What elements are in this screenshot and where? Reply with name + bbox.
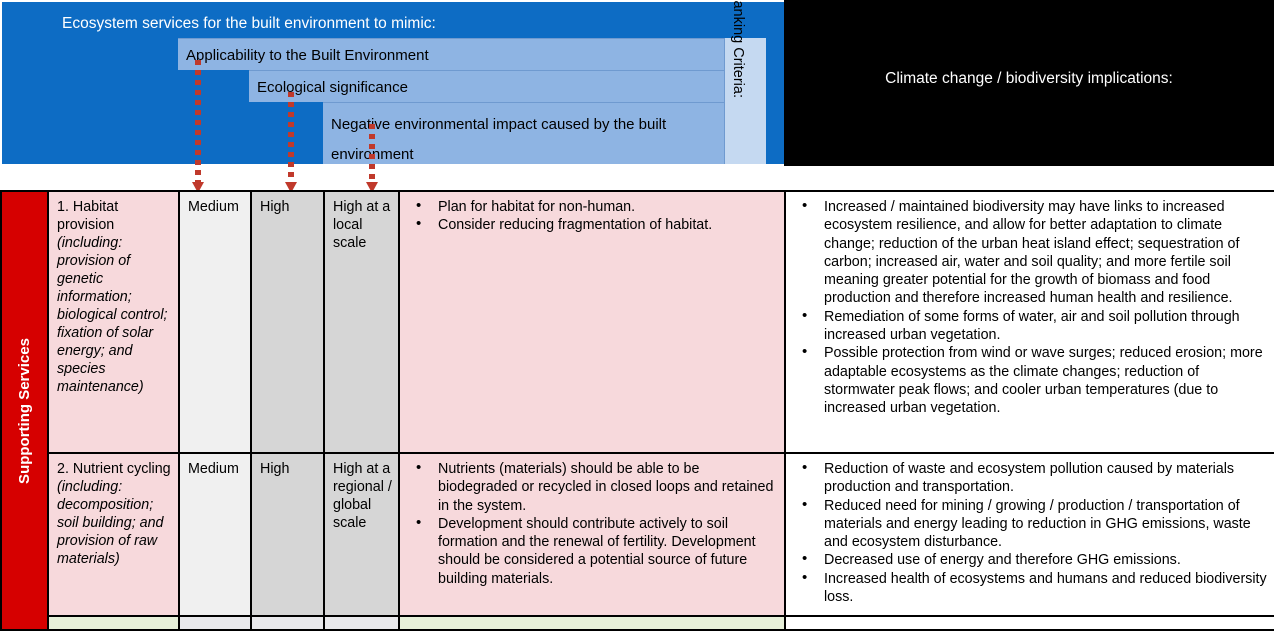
- principles-cell: Plan for habitat for non-human.Consider …: [399, 191, 785, 453]
- principles-cell: Nutrients (materials) should be able to …: [399, 453, 785, 616]
- negative-impact-cell: High at a local scale: [324, 191, 399, 453]
- table-row: 2. Nutrient cycling (including: decompos…: [1, 453, 1274, 616]
- table-header: Ecosystem services for the built environ…: [0, 0, 1274, 166]
- negative-impact-cell-next: [324, 616, 399, 630]
- ecosystem-services-table: Supporting Services 1. Habitat provision…: [0, 190, 1274, 631]
- bullet-item: Reduced need for mining / growing / prod…: [794, 497, 1268, 552]
- negative-impact-cell: High at a regional / global scale: [324, 453, 399, 616]
- bullet-item: Increased / maintained biodiversity may …: [794, 198, 1268, 308]
- bullet-item: Increased health of ecosystems and human…: [794, 570, 1268, 607]
- group-supporting-services: Supporting Services: [1, 191, 48, 630]
- bullet-item: Decreased use of energy and therefore GH…: [794, 551, 1268, 569]
- table-row-partial-next-group: [1, 616, 1274, 630]
- criteria-band-ecological-significance-label: Ecological significance: [257, 78, 408, 98]
- ranking-criteria-label: Ranking Criteria:: [730, 0, 746, 98]
- service-subtitle: (including: provision of genetic informa…: [57, 234, 172, 396]
- applicability-cell: Medium: [179, 453, 251, 616]
- principles-list: Nutrients (materials) should be able to …: [408, 460, 778, 588]
- applicability-cell-next: [179, 616, 251, 630]
- criteria-band-applicability: Applicability to the Built Environment: [178, 38, 724, 70]
- criteria-band-negative-impact-label: Negative environmental impact caused by …: [331, 110, 716, 170]
- implications-list: Reduction of waste and ecosystem polluti…: [794, 460, 1268, 606]
- ecological-significance-cell: High: [251, 453, 324, 616]
- bullet-item: Possible protection from wind or wave su…: [794, 344, 1268, 417]
- ecosystem-services-table-page: Ecosystem services for the built environ…: [0, 0, 1274, 621]
- bullet-item: Nutrients (materials) should be able to …: [408, 460, 778, 515]
- service-title: 2. Nutrient cycling: [57, 460, 172, 478]
- service-title: 1. Habitat provision: [57, 198, 172, 234]
- criteria-band-negative-impact: Negative environmental impact caused by …: [323, 102, 724, 164]
- group-supporting-services-label: Supporting Services: [16, 338, 34, 484]
- header-main-title: Ecosystem services for the built environ…: [62, 14, 762, 34]
- principles-list: Plan for habitat for non-human.Consider …: [408, 198, 778, 235]
- service-name-cell: 1. Habitat provision (including: provisi…: [48, 191, 179, 453]
- bullet-item: Reduction of waste and ecosystem polluti…: [794, 460, 1268, 497]
- table-row: Supporting Services 1. Habitat provision…: [1, 191, 1274, 453]
- implications-cell: Increased / maintained biodiversity may …: [785, 191, 1274, 453]
- applicability-cell: Medium: [179, 191, 251, 453]
- ecological-significance-cell-next: [251, 616, 324, 630]
- ranking-criteria-panel: Ranking Criteria:: [724, 38, 766, 164]
- header-black-panel: Climate change / biodiversity implicatio…: [784, 0, 1274, 166]
- service-name-cell-next: [48, 616, 179, 630]
- principles-cell-next: [399, 616, 785, 630]
- bullet-item: Plan for habitat for non-human.: [408, 198, 778, 216]
- criteria-band-ecological-significance: Ecological significance: [249, 70, 724, 102]
- bullet-item: Remediation of some forms of water, air …: [794, 308, 1268, 345]
- implications-cell-next: [785, 616, 1274, 630]
- implications-cell: Reduction of waste and ecosystem polluti…: [785, 453, 1274, 616]
- bullet-item: Consider reducing fragmentation of habit…: [408, 216, 778, 234]
- implications-list: Increased / maintained biodiversity may …: [794, 198, 1268, 418]
- service-name-cell: 2. Nutrient cycling (including: decompos…: [48, 453, 179, 616]
- service-subtitle: (including: decomposition; soil building…: [57, 478, 172, 568]
- ecological-significance-cell: High: [251, 191, 324, 453]
- bullet-item: Development should contribute actively t…: [408, 515, 778, 588]
- implications-header-title: Climate change / biodiversity implicatio…: [784, 70, 1274, 88]
- criteria-band-applicability-label: Applicability to the Built Environment: [186, 46, 429, 66]
